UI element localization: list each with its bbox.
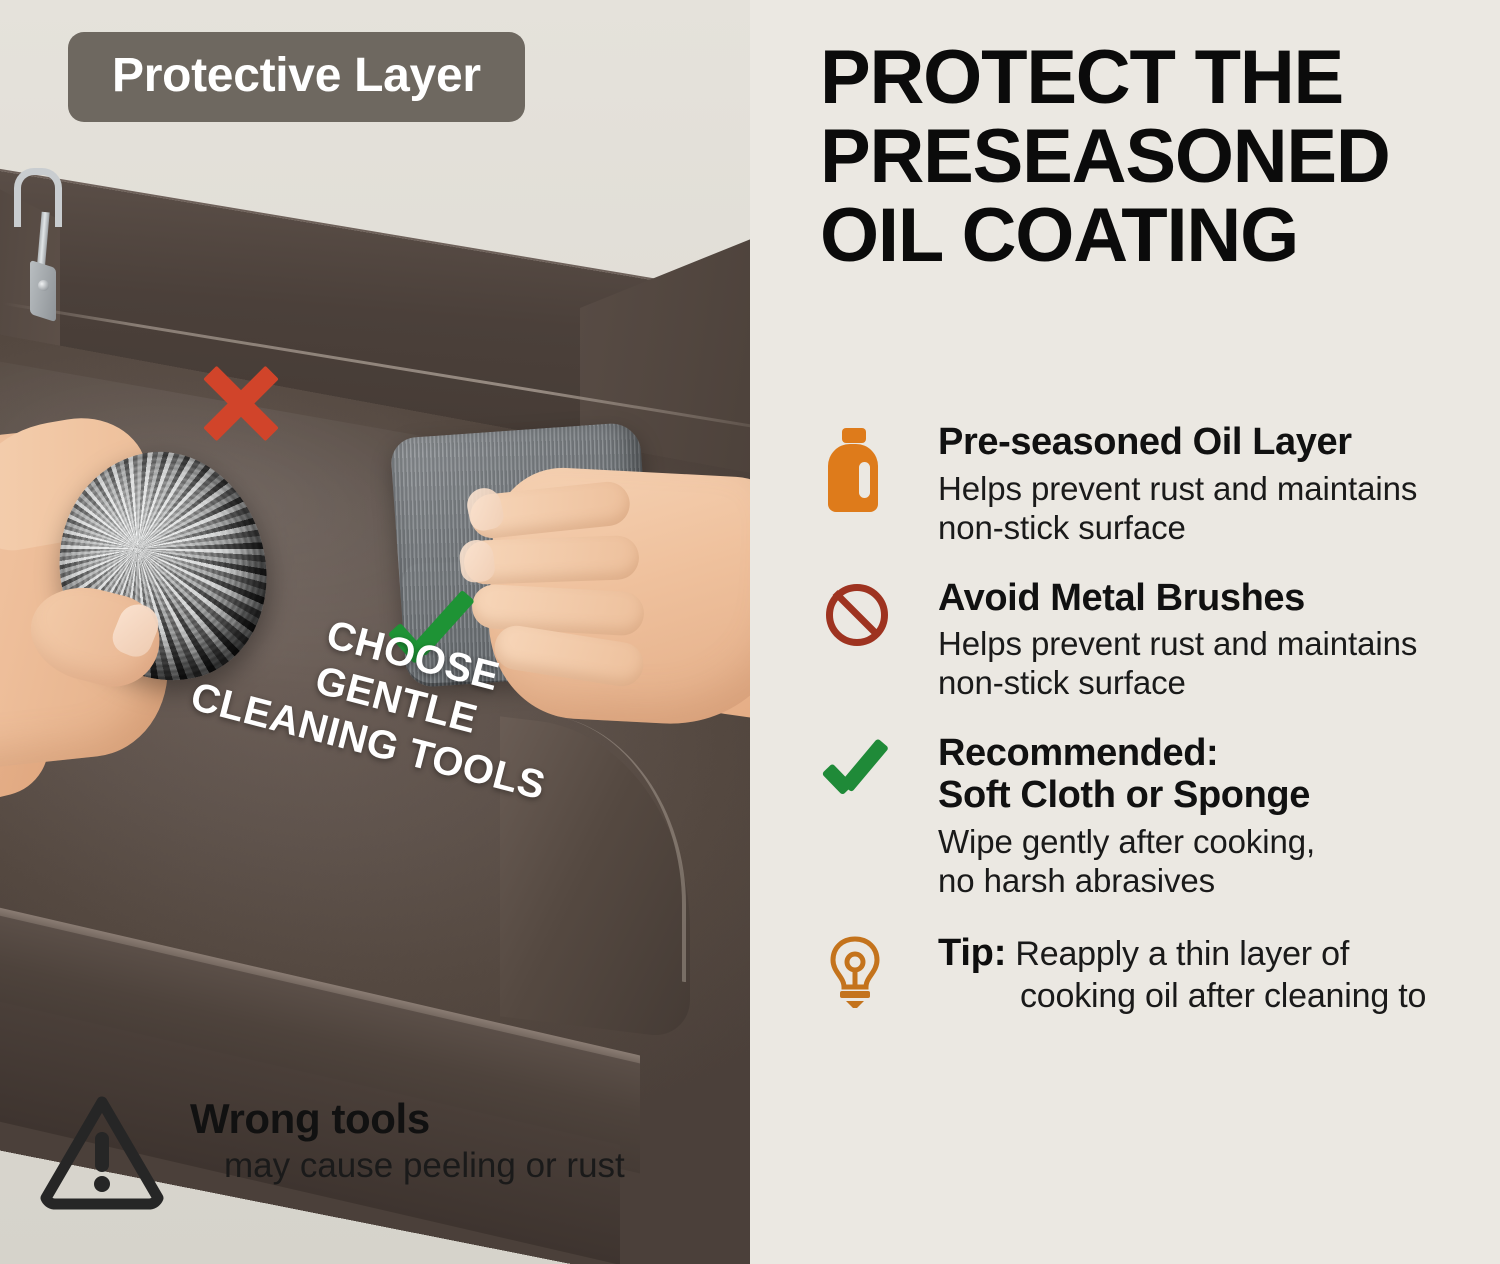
prohibition-slash xyxy=(833,590,882,639)
feature-icon-slot xyxy=(826,733,938,797)
feature-title: Pre-seasoned Oil Layer xyxy=(938,422,1486,464)
headline-line-2: PRESEASONED xyxy=(820,117,1480,196)
tip-label: Tip: xyxy=(938,932,1006,974)
feature-item-avoid-metal-brushes: Avoid Metal Brushes Helps prevent rust a… xyxy=(826,578,1486,704)
red-x-mark-icon xyxy=(198,360,284,446)
feature-desc-line-1: Helps prevent rust and maintains xyxy=(938,470,1486,509)
feature-description: Helps prevent rust and maintains non-sti… xyxy=(938,470,1486,548)
hook-arm xyxy=(14,168,62,227)
feature-desc-line-2: non-stick surface xyxy=(938,509,1486,548)
feature-body: Pre-seasoned Oil Layer Helps prevent rus… xyxy=(938,422,1486,548)
tip-text-line-1: Reapply a thin layer of xyxy=(1015,935,1349,973)
feature-desc-line-2: no harsh abrasives xyxy=(938,862,1486,901)
lightbulb-icon xyxy=(826,935,884,1009)
feature-title-line-1: Avoid Metal Brushes xyxy=(938,578,1486,620)
left-photo-panel: CHOOSE GENTLE CLEANING TOOLS Protective … xyxy=(0,0,750,1264)
headline-line-3: OIL COATING xyxy=(820,196,1480,275)
tip-text-line-2: cooking oil after cleaning to xyxy=(1020,976,1486,1017)
headline-line-1: PROTECT THE xyxy=(820,38,1480,117)
hook-mount-plate xyxy=(30,260,56,322)
tip-text: Tip: Reapply a thin layer of cooking oil… xyxy=(938,931,1486,1017)
hook-screw xyxy=(38,280,49,291)
feature-title-line-1: Recommended: xyxy=(938,733,1486,775)
bottle-body xyxy=(828,444,878,512)
right-info-panel: PROTECT THE PRESEASONED OIL COATING Pre-… xyxy=(750,0,1500,1264)
prohibition-icon xyxy=(826,584,888,646)
feature-description: Helps prevent rust and maintains non-sti… xyxy=(938,625,1486,703)
page-title: PROTECT THE PRESEASONED OIL COATING xyxy=(820,38,1480,275)
warning-text-group: Wrong tools may cause peeling or rust xyxy=(190,1088,625,1185)
feature-title: Avoid Metal Brushes xyxy=(938,578,1486,620)
tip-body: Tip: Reapply a thin layer of cooking oil… xyxy=(938,931,1486,1017)
wrong-tools-warning: Wrong tools may cause peeling or rust xyxy=(38,1088,698,1210)
feature-title-line-1: Pre-seasoned Oil Layer xyxy=(938,422,1486,464)
protective-layer-badge: Protective Layer xyxy=(68,32,525,122)
feature-title: Recommended: Soft Cloth or Sponge xyxy=(938,733,1486,817)
feature-desc-line-2: non-stick surface xyxy=(938,664,1486,703)
feature-description: Wipe gently after cooking, no harsh abra… xyxy=(938,823,1486,901)
warning-triangle-icon xyxy=(38,1092,166,1210)
feature-icon-slot xyxy=(826,422,938,512)
feature-item-recommended-cloth: Recommended: Soft Cloth or Sponge Wipe g… xyxy=(826,733,1486,900)
bottle-handle-cutout xyxy=(859,462,870,498)
bottle-cap xyxy=(842,428,866,443)
feature-icon-slot xyxy=(826,578,938,646)
check-mark-icon xyxy=(826,739,894,797)
product-infographic: CHOOSE GENTLE CLEANING TOOLS Protective … xyxy=(0,0,1500,1264)
feature-icon-slot xyxy=(826,931,938,1009)
chrome-hook-icon xyxy=(8,168,60,298)
feature-desc-line-1: Wipe gently after cooking, xyxy=(938,823,1486,862)
feature-item-oil-layer: Pre-seasoned Oil Layer Helps prevent rus… xyxy=(826,422,1486,548)
warning-title: Wrong tools xyxy=(190,1098,625,1141)
oil-bottle-icon xyxy=(826,428,880,512)
griddle-cleaning-photo: CHOOSE GENTLE CLEANING TOOLS xyxy=(0,0,750,1264)
right-finger-ring xyxy=(471,584,645,637)
feature-body: Avoid Metal Brushes Helps prevent rust a… xyxy=(938,578,1486,704)
warning-subtitle: may cause peeling or rust xyxy=(224,1147,625,1186)
feature-list: Pre-seasoned Oil Layer Helps prevent rus… xyxy=(826,422,1486,1017)
feature-title-line-2: Soft Cloth or Sponge xyxy=(938,775,1486,817)
feature-body: Recommended: Soft Cloth or Sponge Wipe g… xyxy=(938,733,1486,900)
left-hand-with-scrubber xyxy=(0,392,240,812)
protective-layer-badge-label: Protective Layer xyxy=(112,52,481,100)
tip-item: Tip: Reapply a thin layer of cooking oil… xyxy=(826,931,1486,1017)
feature-desc-line-1: Helps prevent rust and maintains xyxy=(938,625,1486,664)
